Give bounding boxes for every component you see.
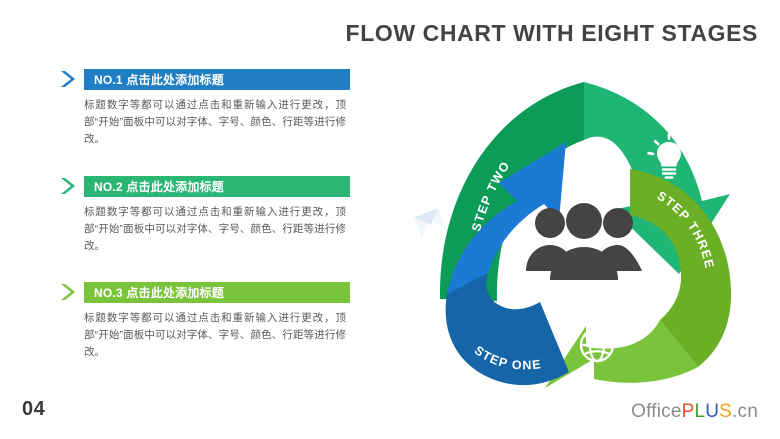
block-body-no-1: 标题数字等都可以通过点击和重新输入进行更改，顶部“开始”面板中可以对字体、字号、… [84, 97, 346, 148]
cycle-flow-diagram: STEP TWO STEP THREE [398, 58, 770, 388]
chevron-right-icon [60, 69, 78, 89]
brand-letter-l: L [694, 401, 705, 422]
text-block-no-3: NO.3 点击此处添加标题 标题数字等都可以通过点击和重新输入进行更改，顶部“开… [60, 281, 350, 361]
block-heading-row-no-1: NO.1 点击此处添加标题 [60, 68, 350, 90]
text-block-no-1: NO.1 点击此处添加标题 标题数字等都可以通过点击和重新输入进行更改，顶部“开… [60, 68, 350, 148]
page-title: FLOW CHART WITH EIGHT STAGES [346, 20, 758, 47]
block-heading-label-no-2: NO.2 点击此处添加标题 [94, 178, 224, 195]
block-body-no-3: 标题数字等都可以通过点击和重新输入进行更改，顶部“开始”面板中可以对字体、字号、… [84, 310, 346, 361]
block-heading-bar-no-2[interactable]: NO.2 点击此处添加标题 [84, 176, 350, 197]
block-heading-row-no-3: NO.3 点击此处添加标题 [60, 281, 350, 303]
envelope-icon [414, 208, 446, 238]
brand-logo: OfficePLUS.cn [631, 401, 758, 423]
text-block-no-2: NO.2 点击此处添加标题 标题数字等都可以通过点击和重新输入进行更改，顶部“开… [60, 175, 350, 255]
brand-letter-u: U [705, 401, 719, 422]
block-heading-bar-no-3[interactable]: NO.3 点击此处添加标题 [84, 282, 350, 303]
block-body-no-2: 标题数字等都可以通过点击和重新输入进行更改，顶部“开始”面板中可以对字体、字号、… [84, 204, 346, 255]
people-group-icon [526, 203, 642, 280]
block-heading-label-no-1: NO.1 点击此处添加标题 [94, 71, 224, 88]
brand-letter-p: P [682, 401, 695, 422]
page-number: 04 [22, 398, 45, 421]
brand-tld-text: .cn [732, 401, 758, 422]
chevron-right-icon [60, 282, 78, 302]
brand-letter-s: S [719, 401, 732, 422]
block-heading-row-no-2: NO.2 点击此处添加标题 [60, 175, 350, 197]
brand-office-text: Office [631, 401, 681, 422]
block-heading-label-no-3: NO.3 点击此处添加标题 [94, 284, 224, 301]
chevron-right-icon [60, 176, 78, 196]
block-heading-bar-no-1[interactable]: NO.1 点击此处添加标题 [84, 69, 350, 90]
